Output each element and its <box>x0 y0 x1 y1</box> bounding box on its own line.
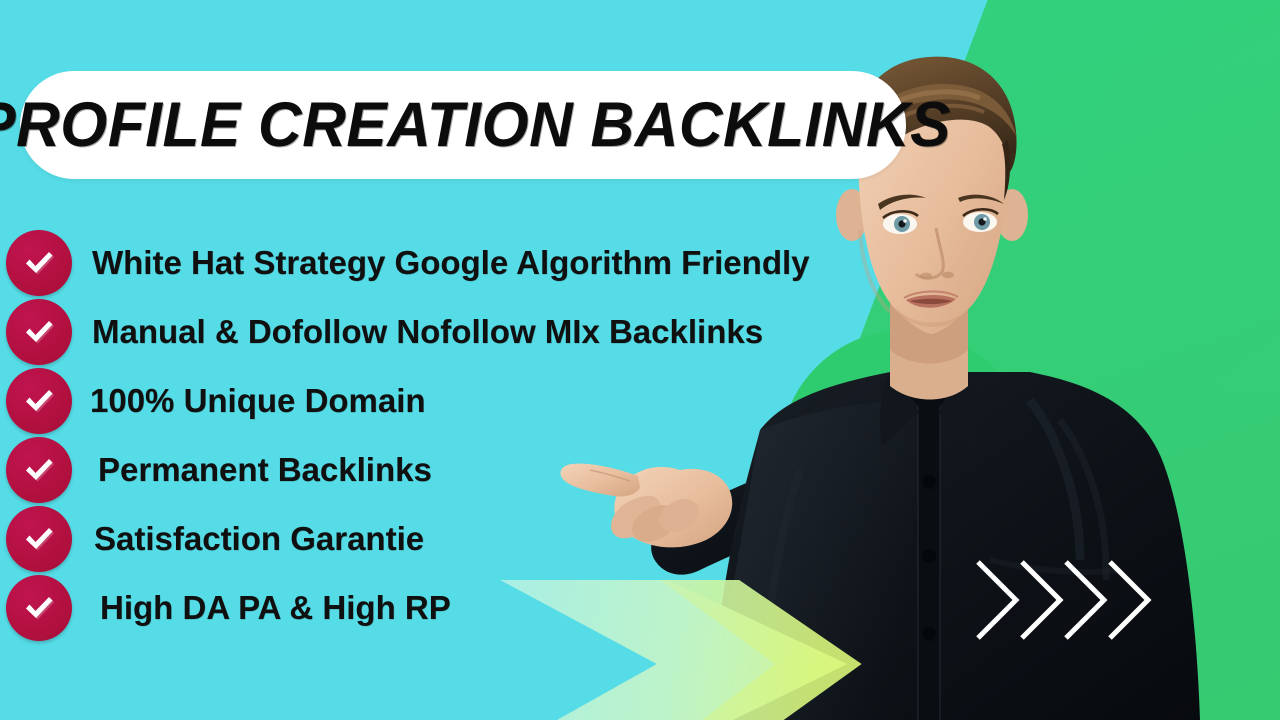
list-item: Permanent Backlinks <box>6 435 936 504</box>
list-item-label: Satisfaction Garantie <box>94 522 424 555</box>
check-icon <box>6 368 72 434</box>
list-item-label: Manual & Dofollow Nofollow MIx Backlinks <box>92 315 763 348</box>
list-item-label: 100% Unique Domain <box>90 384 426 417</box>
check-icon <box>6 437 72 503</box>
list-item-label: White Hat Strategy Google Algorithm Frie… <box>92 246 810 279</box>
list-item: Satisfaction Garantie <box>6 504 936 573</box>
page-title: PROFILE CREATION BACKLINKS <box>0 89 951 161</box>
check-icon <box>6 506 72 572</box>
list-item: White Hat Strategy Google Algorithm Frie… <box>6 228 936 297</box>
title-pill: PROFILE CREATION BACKLINKS <box>20 71 906 179</box>
promo-banner: PROFILE CREATION BACKLINKS White Hat Str… <box>0 0 1280 720</box>
list-item: High DA PA & High RP <box>6 573 936 642</box>
list-item: Manual & Dofollow Nofollow MIx Backlinks <box>6 297 936 366</box>
list-item-label: Permanent Backlinks <box>98 453 432 486</box>
check-icon <box>6 575 72 641</box>
feature-list: White Hat Strategy Google Algorithm Frie… <box>6 228 936 642</box>
list-item: 100% Unique Domain <box>6 366 936 435</box>
list-item-label: High DA PA & High RP <box>100 591 451 624</box>
check-icon <box>6 299 72 365</box>
check-icon <box>6 230 72 296</box>
